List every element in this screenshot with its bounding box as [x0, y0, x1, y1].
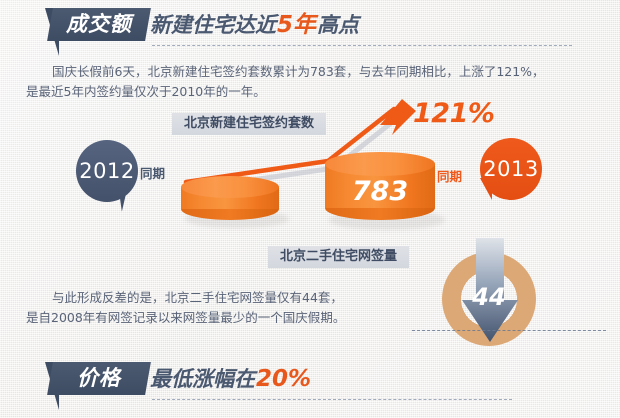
period-label-left: 同期 [140, 163, 165, 182]
bar-value-2013: 783 [325, 176, 435, 207]
section-title-prefix-bottom: 最低涨幅在 [150, 367, 255, 391]
section-title-prefix-top: 新建住宅达近 [150, 13, 276, 37]
section-tag-label-top: 成交额 [50, 8, 148, 41]
growth-percent-label: 121% [413, 98, 494, 129]
infographic-page: 成交额 新建住宅达近5年高点 国庆长假前6天，北京新建住宅签约套数累计为783套… [0, 0, 620, 418]
banner-second-hand: 北京二手住宅网签量 [268, 246, 409, 268]
paragraph-first-line1: 国庆长假前6天，北京新建住宅签约套数累计为783套，与去年同期相比，上涨了121… [26, 62, 545, 82]
year-bubble-2013: 2013 [480, 138, 542, 200]
period-label-right: 同期 [437, 166, 462, 185]
section-tag-bottom: 价格 [40, 362, 148, 408]
header-divider-top [152, 45, 572, 46]
header-divider-bottom [152, 399, 512, 400]
section-title-bottom: 最低涨幅在20% [150, 364, 312, 394]
banner-new-homes: 北京新建住宅签约套数 [172, 113, 326, 135]
divider-lower-dashed [412, 330, 606, 331]
paragraph-second: 与此形成反差的是，北京二手住宅网签量仅有44套， 是自2008年有网签记录以来网… [26, 288, 345, 328]
year-bubble-2012: 2012 [76, 140, 138, 202]
section-header-top: 成交额 新建住宅达近5年高点 [0, 4, 620, 58]
paragraph-second-line2: 是自2008年有网签记录以来网签量最少的一个国庆假期。 [26, 308, 345, 328]
section-title-suffix-top: 高点 [317, 13, 359, 37]
section-tag-top: 成交额 [40, 8, 148, 54]
cylinder-top [181, 176, 279, 198]
paragraph-second-line1: 与此形成反差的是，北京二手住宅网签量仅有44套， [26, 288, 343, 308]
section-tag-label-bottom: 价格 [50, 362, 148, 395]
secondhand-value-label: 44 [462, 283, 516, 311]
section-title-highlight-top: 5年 [276, 12, 317, 38]
bar-cylinder-2013: 783 [325, 152, 435, 230]
section-title-highlight-bottom: 20% [255, 366, 312, 392]
cylinder-top [325, 152, 435, 176]
bar-cylinder-2012 [181, 176, 279, 226]
section-title-top: 新建住宅达近5年高点 [150, 10, 359, 40]
section-header-bottom: 价格 最低涨幅在20% [0, 358, 620, 412]
